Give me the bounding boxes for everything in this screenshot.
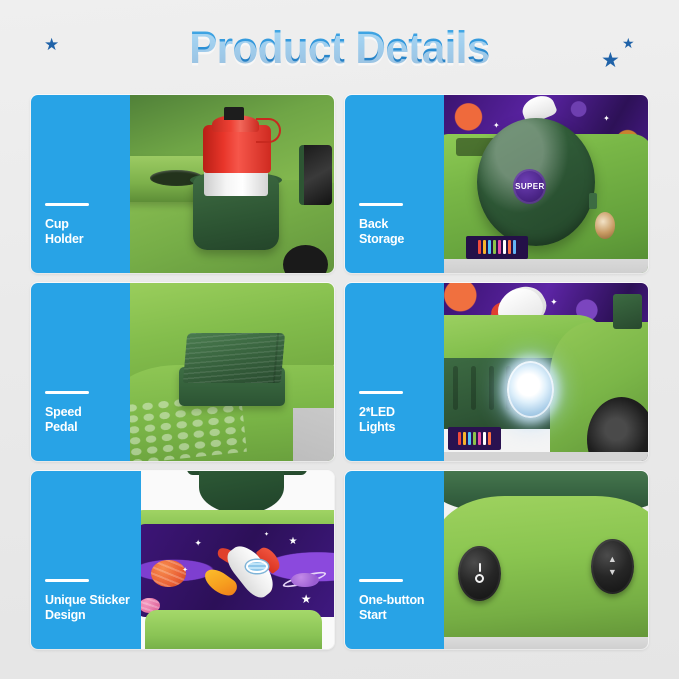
- feature-card-unique-sticker-design[interactable]: Unique Sticker Design ✦: [31, 471, 334, 649]
- feature-label-text: Speed Pedal: [45, 405, 130, 436]
- page-title: Product Details: [183, 22, 496, 74]
- feature-label-panel: One-button Start: [345, 471, 444, 649]
- storage-badge: SUPER: [513, 169, 546, 204]
- feature-grid: Cup Holder Back Storag: [31, 95, 648, 649]
- feature-photo-one-button-start: ▲ ▼: [444, 471, 648, 649]
- planet-saturn: [291, 573, 320, 588]
- header: ★ Product Details ★ ★: [0, 0, 679, 95]
- speed-pedal: [183, 333, 285, 383]
- label-rule: [359, 579, 403, 582]
- star-icon-left: ★: [44, 36, 59, 53]
- speed-button[interactable]: ▲ ▼: [591, 539, 634, 594]
- feature-card-one-button-start[interactable]: One-button Start ▲ ▼: [345, 471, 648, 649]
- star-icon-right-large: ★: [601, 50, 620, 71]
- label-rule: [45, 579, 89, 582]
- feature-label-panel: Back Storage: [345, 95, 444, 273]
- feature-label-panel: Unique Sticker Design: [31, 471, 141, 649]
- label-rule: [359, 391, 403, 394]
- back-storage-compartment: SUPER: [477, 118, 595, 246]
- feature-card-led-lights[interactable]: 2*LED Lights ✦ ✦ ✦ ✦: [345, 283, 648, 461]
- bottle-cap: [224, 107, 244, 119]
- feature-photo-cup-holder: [130, 95, 334, 273]
- label-rule: [45, 203, 89, 206]
- feature-label-text: One-button Start: [359, 593, 444, 624]
- side-mirror: [613, 294, 642, 330]
- feature-card-cup-holder[interactable]: Cup Holder: [31, 95, 334, 273]
- feature-label-panel: Speed Pedal: [31, 283, 130, 461]
- feature-label-text: 2*LED Lights: [359, 405, 444, 436]
- label-rule: [359, 203, 403, 206]
- license-plate-sticker: [466, 236, 527, 259]
- star-icon-right-small: ★: [622, 36, 635, 50]
- planet-orange: [151, 560, 186, 588]
- feature-label-panel: 2*LED Lights: [345, 283, 444, 461]
- power-button[interactable]: [458, 546, 501, 601]
- feature-photo-led-lights: ✦ ✦ ✦ ✦: [444, 283, 648, 461]
- feature-photo-unique-sticker-design: ✦ ✦ ★ ★ ✦: [141, 471, 334, 649]
- feature-label-panel: Cup Holder: [31, 95, 130, 273]
- license-plate-sticker: [448, 427, 501, 450]
- power-icon: [475, 563, 484, 583]
- feature-label-text: Cup Holder: [45, 217, 130, 248]
- storage-badge-text: SUPER: [515, 182, 545, 191]
- side-mirror: [299, 145, 332, 206]
- feature-photo-speed-pedal: [130, 283, 334, 461]
- space-sticker: ✦ ✦ ★ ★ ✦: [141, 524, 334, 617]
- up-down-arrows-icon: ▲ ▼: [608, 555, 617, 577]
- steering-column: [199, 471, 284, 514]
- product-details-infographic: ★ Product Details ★ ★ Cup Holder: [0, 0, 679, 679]
- label-rule: [45, 391, 89, 394]
- feature-card-back-storage[interactable]: Back Storage ✦ ✦ ✦ ✦ ✦ SUPER: [345, 95, 648, 273]
- feature-photo-back-storage: ✦ ✦ ✦ ✦ ✦ SUPER: [444, 95, 648, 273]
- feature-card-speed-pedal[interactable]: Speed Pedal: [31, 283, 334, 461]
- feature-label-text: Unique Sticker Design: [45, 593, 141, 624]
- feature-label-text: Back Storage: [359, 217, 444, 248]
